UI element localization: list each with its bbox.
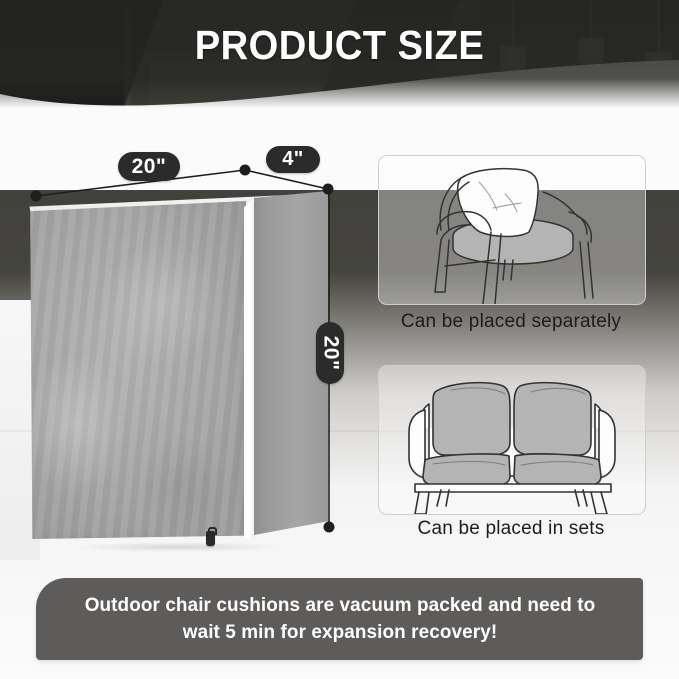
height-dimension-label: 20" — [318, 336, 342, 371]
product-size-infographic: PRODUCT SIZE 20" 4" 20" — [0, 0, 679, 679]
panel-placed-in-sets — [378, 365, 646, 515]
single-chair-icon — [379, 156, 645, 304]
notice-banner: Outdoor chair cushions are vacuum packed… — [36, 578, 643, 660]
product-cushion-image — [28, 183, 328, 543]
caption-placed-in-sets: Can be placed in sets — [378, 518, 644, 540]
cushion-front-face — [28, 201, 246, 539]
notice-banner-text: Outdoor chair cushions are vacuum packed… — [78, 592, 602, 646]
width-dimension-badge: 20" — [118, 152, 180, 181]
loveseat-icon — [379, 366, 645, 514]
height-dimension-badge: 20" — [316, 322, 344, 384]
cushion-piping-seam — [244, 197, 255, 541]
page-title: PRODUCT SIZE — [24, 23, 655, 67]
product-shadow — [34, 540, 324, 554]
panel-placed-separately — [378, 155, 646, 305]
depth-dimension-badge: 4" — [266, 146, 320, 173]
caption-placed-separately: Can be placed separately — [378, 311, 644, 333]
